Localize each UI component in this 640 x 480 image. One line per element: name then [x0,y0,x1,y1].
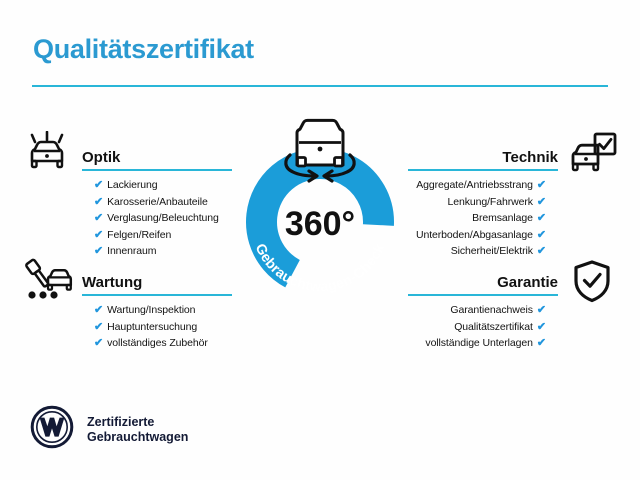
checklist-item-label: Verglasung/Beleuchtung [107,212,219,224]
section-title: Optik [82,149,120,166]
badge-center-label: 360° [285,205,355,243]
checklist-optik: ✔Lackierung✔Karosserie/Anbauteile✔Vergla… [94,177,232,260]
checklist-item: Qualitätszertifikat✔ [408,319,546,336]
checklist-item: ✔Wartung/Inspektion [94,302,232,319]
section-divider [408,294,558,296]
checklist-item: Garantienachweis✔ [408,302,546,319]
check-icon: ✔ [537,229,546,241]
footer-text: Zertifizierte Gebrauchtwagen [87,415,188,445]
car-shine-icon [23,131,71,180]
checklist-item-label: Qualitätszertifikat [454,321,533,333]
check-icon: ✔ [94,196,103,208]
check-icon: ✔ [537,304,546,316]
checklist-item-label: Unterboden/Abgasanlage [416,229,533,241]
check-icon: ✔ [94,229,103,241]
checklist-item: Bremsanlage✔ [408,210,546,227]
section-header: Garantie [408,266,558,296]
checklist-item-label: Garantienachweis [450,304,532,316]
car-checkbox-icon [568,131,618,180]
section-title: Wartung [82,274,142,291]
checklist-item-label: Felgen/Reifen [107,229,171,241]
section-header: Optik [82,141,232,171]
checklist-item: ✔Hauptuntersuchung [94,319,232,336]
checklist-wartung: ✔Wartung/Inspektion✔Hauptuntersuchung✔vo… [94,302,232,352]
section-technik: Technik Aggregate/Antriebsstrang✔Lenkung… [408,141,558,260]
checklist-item: Aggregate/Antriebsstrang✔ [408,177,546,194]
page-title: Qualitätszertifikat [33,34,254,65]
checklist-item: Lenkung/Fahrwerk✔ [408,194,546,211]
section-divider [82,169,232,171]
checklist-garantie: Garantienachweis✔Qualitätszertifikat✔vol… [408,302,546,352]
check-icon: ✔ [537,196,546,208]
section-optik: Optik ✔Lackierung✔Karosserie/Anbauteile✔… [82,141,232,260]
check-icon: ✔ [94,245,103,257]
checklist-item: ✔Lackierung [94,177,232,194]
checklist-item-label: vollständiges Zubehör [107,337,208,349]
title-divider [32,85,608,87]
footer-brand: Zertifizierte Gebrauchtwagen [30,405,188,454]
check-icon: ✔ [94,304,103,316]
certificate-page: Qualitätszertifikat [0,0,640,480]
checklist-item-label: Wartung/Inspektion [107,304,195,316]
car-service-tool-icon [23,257,73,308]
checklist-item-label: Lackierung [107,179,157,191]
checklist-item: Unterboden/Abgasanlage✔ [408,227,546,244]
checklist-item-label: Aggregate/Antriebsstrang [416,179,533,191]
check-icon: ✔ [94,212,103,224]
section-garantie: Garantie Garantienachweis✔Qualitätszerti… [408,266,558,352]
checklist-item-label: Hauptuntersuchung [107,321,197,333]
shield-check-icon [572,259,612,308]
checklist-item: vollständige Unterlagen✔ [408,335,546,352]
check-icon: ✔ [537,245,546,257]
checklist-item-label: Karosserie/Anbauteile [107,196,208,208]
footer-line-1: Zertifizierte [87,415,188,430]
checklist-item: ✔Innenraum [94,243,232,260]
section-title: Technik [502,149,558,166]
checklist-item: ✔Felgen/Reifen [94,227,232,244]
checklist-item: ✔Karosserie/Anbauteile [94,194,232,211]
checklist-item-label: Lenkung/Fahrwerk [448,196,533,208]
checklist-technik: Aggregate/Antriebsstrang✔Lenkung/Fahrwer… [408,177,546,260]
check-icon: ✔ [94,179,103,191]
checklist-item-label: Innenraum [107,245,156,257]
footer-line-2: Gebrauchtwagen [87,430,188,445]
section-title: Garantie [497,274,558,291]
section-divider [82,294,232,296]
check-icon: ✔ [94,337,103,349]
checklist-item-label: Bremsanlage [472,212,533,224]
check-icon: ✔ [537,179,546,191]
check-icon: ✔ [537,321,546,333]
volkswagen-roundel-logo [30,405,74,454]
section-divider [408,169,558,171]
check-icon: ✔ [94,321,103,333]
badge-360-gebrauchtwagen-check: 360° Gebrauchtwagen-Check [227,118,413,314]
check-icon: ✔ [537,212,546,224]
section-header: Wartung [82,266,232,296]
checklist-item: Sicherheit/Elektrik✔ [408,243,546,260]
section-wartung: Wartung ✔Wartung/Inspektion✔Hauptuntersu… [82,266,232,352]
checklist-item-label: vollständige Unterlagen [425,337,532,349]
check-icon: ✔ [537,337,546,349]
checklist-item: ✔vollständiges Zubehör [94,335,232,352]
section-header: Technik [408,141,558,171]
checklist-item: ✔Verglasung/Beleuchtung [94,210,232,227]
checklist-item-label: Sicherheit/Elektrik [451,245,533,257]
